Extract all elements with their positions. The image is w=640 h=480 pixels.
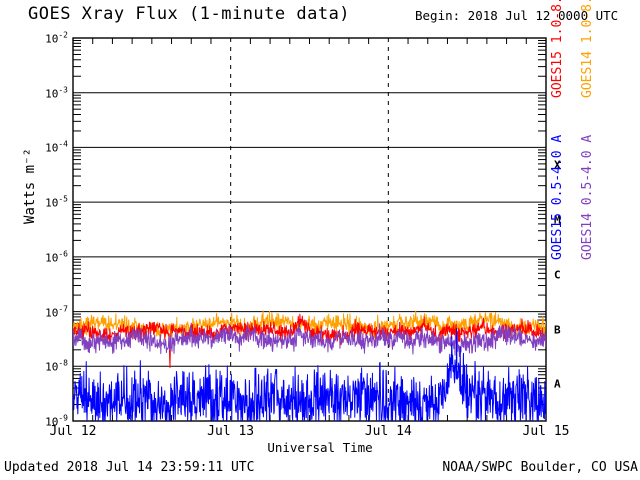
- goes-xray-flux-plot: GOES Xray Flux (1-minute data) Begin: 20…: [0, 0, 640, 480]
- y-tick-label: 10-5: [18, 195, 68, 210]
- x-tick-label: Jul 12: [50, 424, 97, 439]
- y-tick-label: 10-8: [18, 359, 68, 374]
- legend-item: GOES14 1.0-8.0 A: [580, 0, 595, 98]
- y-tick-label: 10-2: [18, 31, 68, 46]
- flare-class-A: A: [554, 378, 561, 391]
- legend-item: GOES15 0.5-4.0 A: [550, 135, 565, 260]
- y-tick-label: 10-6: [18, 250, 68, 265]
- y-tick-label: 10-4: [18, 140, 68, 155]
- legend-item: GOES15 1.0-8.0 A: [550, 0, 565, 98]
- flare-class-C: C: [554, 268, 561, 281]
- source-label: NOAA/SWPC Boulder, CO USA: [442, 460, 638, 475]
- flare-class-B: B: [554, 323, 561, 336]
- updated-label: Updated 2018 Jul 14 23:59:11 UTC: [4, 460, 254, 475]
- y-tick-label: 10-3: [18, 85, 68, 100]
- legend-item: GOES14 0.5-4.0 A: [580, 135, 595, 260]
- x-tick-label: Jul 13: [207, 424, 254, 439]
- x-tick-label: Jul 14: [365, 424, 412, 439]
- chart-canvas: [0, 0, 640, 480]
- x-tick-label: Jul 15: [523, 424, 570, 439]
- y-tick-label: 10-7: [18, 304, 68, 319]
